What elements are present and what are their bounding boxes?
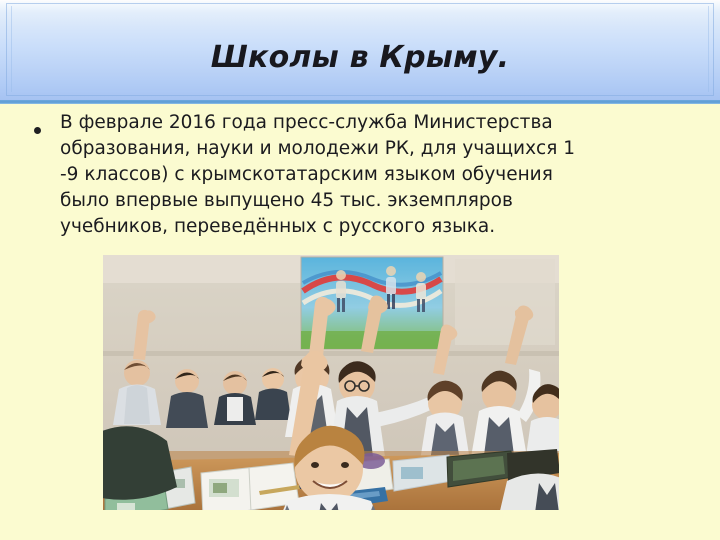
classroom-photo bbox=[103, 255, 559, 510]
bullet-paragraph: В феврале 2016 года пресс-служба Министе… bbox=[60, 110, 682, 240]
paragraph-line: В феврале 2016 года пресс-служба Министе… bbox=[60, 110, 682, 136]
list-item: В феврале 2016 года пресс-служба Министе… bbox=[34, 110, 682, 240]
bullet-icon bbox=[34, 110, 60, 138]
paragraph-line: учебников, переведённых с русского языка… bbox=[60, 214, 682, 240]
slide: Школы в Крыму. В феврале 2016 года пресс… bbox=[0, 0, 720, 540]
content-body: В феврале 2016 года пресс-служба Министе… bbox=[34, 110, 682, 240]
page-title: Школы в Крыму. bbox=[0, 40, 720, 75]
paragraph-line: образования, науки и молодежи РК, для уч… bbox=[60, 136, 682, 162]
title-divider bbox=[0, 100, 720, 104]
classroom-photo-illustration bbox=[103, 255, 559, 510]
title-bar: Школы в Крыму. bbox=[0, 0, 720, 104]
paragraph-line: было впервые выпущено 45 тыс. экземпляро… bbox=[60, 188, 682, 214]
paragraph-line: -9 классов) с крымскотатарским языком об… bbox=[60, 162, 682, 188]
